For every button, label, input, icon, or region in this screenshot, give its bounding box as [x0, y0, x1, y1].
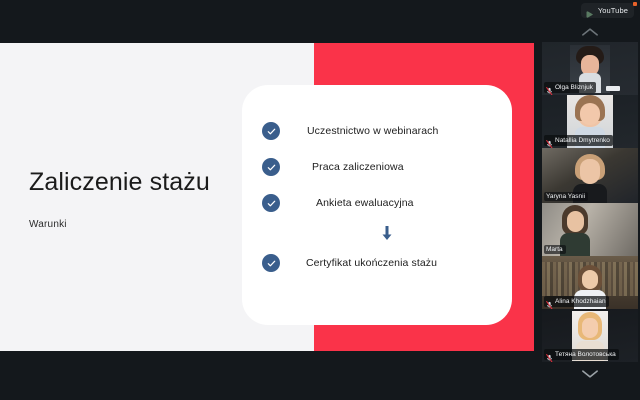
- participant-tile[interactable]: Marta: [542, 203, 638, 256]
- connection-badge: [606, 86, 620, 91]
- check-circle-icon: [262, 254, 280, 272]
- participant-tile-list[interactable]: Olga Bliznjuk: [542, 42, 638, 362]
- list-item-label: Certyfikat ukończenia stażu: [306, 257, 437, 269]
- participant-tile-active-speaker[interactable]: Yaryna Yasnii: [542, 148, 638, 203]
- slide-card: Uczestnictwo w webinarach Praca zaliczen…: [242, 85, 512, 325]
- list-item: Praca zaliczeniowa: [262, 149, 498, 185]
- participant-name: Olga Bliznjuk: [555, 84, 593, 91]
- mic-muted-icon: [546, 297, 553, 306]
- participant-name: Alina Khodzhaian: [555, 298, 606, 305]
- shared-slide: Zaliczenie stażu Warunki Uczestnictwo w …: [0, 43, 534, 351]
- mic-muted-icon: [546, 83, 553, 92]
- list-item: Uczestnictwo w webinarach: [262, 113, 498, 149]
- chevron-up-icon: [581, 27, 599, 37]
- list-item: Ankieta ewaluacyjna: [262, 185, 498, 221]
- arrow-down-icon: [262, 221, 498, 245]
- scroll-up-button[interactable]: [540, 22, 640, 42]
- youtube-stream-badge[interactable]: YouTube: [581, 3, 634, 18]
- participant-tile[interactable]: Alina Khodzhaian: [542, 256, 638, 309]
- participant-name-bar: Olga Bliznjuk: [544, 82, 596, 93]
- participant-name-bar: Тетяна Волотовська: [544, 349, 619, 360]
- participant-tile[interactable]: Olga Bliznjuk: [542, 42, 638, 95]
- participants-panel: Olga Bliznjuk: [540, 22, 640, 400]
- slide-bullet-list: Uczestnictwo w webinarach Praca zaliczen…: [262, 113, 498, 281]
- chevron-down-icon: [581, 369, 599, 379]
- top-bar: YouTube: [0, 0, 640, 22]
- participant-name-bar: Yaryna Yasnii: [544, 192, 588, 201]
- participant-name-bar: Natallia Dmytrenko: [544, 135, 613, 146]
- video-conference-screen: YouTube Zaliczenie stażu Warunki Uczestn…: [0, 0, 640, 400]
- participant-name: Marta: [546, 246, 563, 253]
- participant-name: Yaryna Yasnii: [546, 193, 585, 200]
- mic-muted-icon: [546, 136, 553, 145]
- recording-indicator-dot: [633, 2, 637, 6]
- scroll-down-button[interactable]: [540, 364, 640, 384]
- participant-name: Тетяна Волотовська: [555, 351, 616, 358]
- participant-name-bar: Alina Khodzhaian: [544, 296, 609, 307]
- slide-title: Zaliczenie stażu: [29, 168, 210, 197]
- check-circle-icon: [262, 158, 280, 176]
- list-item: Certyfikat ukończenia stażu: [262, 245, 498, 281]
- participant-name: Natallia Dmytrenko: [555, 137, 610, 144]
- participant-name-bar: Marta: [544, 245, 566, 254]
- mic-muted-icon: [546, 350, 553, 359]
- slide-subtitle: Warunki: [29, 219, 67, 230]
- list-item-label: Praca zaliczeniowa: [312, 161, 404, 173]
- list-item-label: Uczestnictwo w webinarach: [307, 125, 438, 137]
- youtube-play-icon: [585, 6, 594, 15]
- check-circle-icon: [262, 122, 280, 140]
- check-circle-icon: [262, 194, 280, 212]
- participant-tile[interactable]: Тетяна Волотовська: [542, 309, 638, 362]
- participant-tile[interactable]: Natallia Dmytrenko: [542, 95, 638, 148]
- list-item-label: Ankieta ewaluacyjna: [316, 197, 414, 209]
- youtube-badge-label: YouTube: [598, 7, 628, 15]
